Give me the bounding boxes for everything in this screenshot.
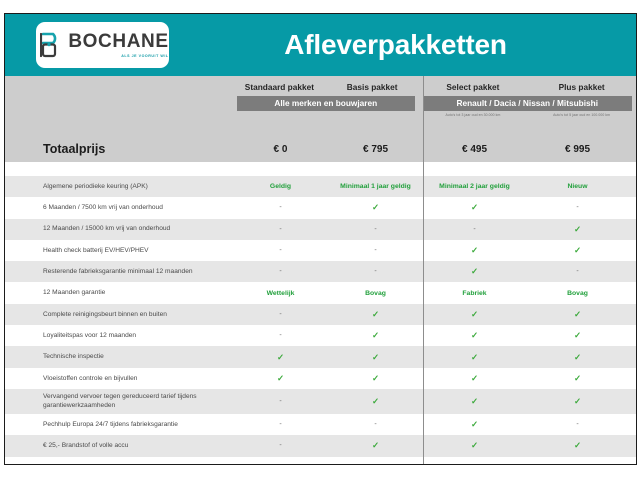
feature-value-select: -: [423, 226, 526, 233]
feature-value-select: ✓: [423, 419, 526, 430]
dash-icon: -: [473, 226, 475, 233]
dash-icon: -: [279, 398, 281, 405]
feature-value-plus: ✓: [526, 352, 629, 363]
table-row: 12 Maanden garantieWettelijkBovagFabriek…: [5, 282, 636, 303]
feature-value-standaard: -: [233, 247, 328, 254]
feature-value-select: ✓: [423, 352, 526, 363]
feature-value-plus: ✓: [526, 224, 629, 235]
table-row: Vervangend vervoer tegen gereduceerd tar…: [5, 389, 636, 414]
feature-value-basis: -: [328, 421, 423, 428]
check-icon: ✓: [471, 245, 478, 255]
table-row: 6 Maanden / 7500 km vrij van onderhoud-✓…: [5, 197, 636, 218]
feature-value-standaard: -: [233, 332, 328, 339]
feature-value-standaard: -: [233, 268, 328, 275]
check-icon: ✓: [574, 330, 581, 340]
feature-value-select: Minimaal 2 jaar geldig: [423, 183, 526, 190]
package-comparison-sheet: BOCHANE ALS JE VOORUIT WIL Afleverpakket…: [4, 13, 637, 465]
package-sub-select: Auto's tot 3 jaar oud en 30.000 km: [419, 113, 528, 117]
total-price-plus: € 995: [526, 144, 629, 155]
page-banner: BOCHANE ALS JE VOORUIT WIL Afleverpakket…: [5, 14, 636, 76]
check-icon: ✓: [372, 330, 379, 340]
feature-value-standaard: -: [233, 226, 328, 233]
table-row: Resterende fabrieksgarantie minimaal 12 …: [5, 261, 636, 282]
feature-value-basis: ✓: [328, 440, 423, 451]
table-row: Complete reinigingsbeurt binnen en buite…: [5, 304, 636, 325]
group-scope-bar-brands: Renault / Dacia / Nissan / Mitsubishi: [423, 96, 632, 111]
feature-table: Algemene periodieke keuring (APK)GeldigM…: [5, 176, 636, 457]
feature-value-select: ✓: [423, 202, 526, 213]
dash-icon: -: [279, 311, 281, 318]
total-price-basis: € 795: [328, 144, 423, 155]
feature-value-basis: -: [328, 247, 423, 254]
dash-icon: -: [279, 332, 281, 339]
feature-name: Complete reinigingsbeurt binnen en buite…: [5, 310, 233, 320]
dash-icon: -: [576, 204, 578, 211]
dash-icon: -: [374, 268, 376, 275]
package-group-brandspecific: Select pakket Plus pakket Renault / Daci…: [419, 76, 636, 136]
dash-icon: -: [279, 442, 281, 449]
check-icon: ✓: [574, 245, 581, 255]
check-icon: ✓: [471, 330, 478, 340]
feature-value-plus: ✓: [526, 330, 629, 341]
check-icon: ✓: [574, 396, 581, 406]
feature-value-standaard: -: [233, 398, 328, 405]
package-sub-plus: Auto's tot 5 jaar oud en 100.000 km: [527, 113, 636, 117]
feature-name: 6 Maanden / 7500 km vrij van onderhoud: [5, 203, 233, 213]
check-icon: ✓: [574, 352, 581, 362]
feature-value-plus: -: [526, 421, 629, 428]
feature-value-plus: ✓: [526, 396, 629, 407]
total-price-label: Totaalprijs: [5, 142, 233, 156]
feature-value-select: ✓: [423, 396, 526, 407]
feature-value-standaard: ✓: [233, 373, 328, 384]
dash-icon: -: [576, 421, 578, 428]
check-icon: ✓: [471, 202, 478, 212]
check-icon: ✓: [574, 373, 581, 383]
feature-value-basis: ✓: [328, 309, 423, 320]
table-row: € 25,- Brandstof of volle accu-✓✓✓: [5, 435, 636, 456]
dash-icon: -: [279, 204, 281, 211]
logo-wordmark: BOCHANE: [68, 32, 168, 51]
dash-icon: -: [279, 268, 281, 275]
check-icon: ✓: [471, 352, 478, 362]
check-icon: ✓: [574, 224, 581, 234]
feature-value-plus: ✓: [526, 309, 629, 320]
package-header: Standaard pakket Basis pakket Alle merke…: [5, 76, 636, 136]
feature-name: Technische inspectie: [5, 352, 233, 362]
feature-value-standaard: Wettelijk: [233, 290, 328, 297]
check-icon: ✓: [372, 440, 379, 450]
dash-icon: -: [279, 226, 281, 233]
feature-name: 12 Maanden garantie: [5, 288, 233, 298]
table-row: Pechhulp Europa 24/7 tijdens fabrieksgar…: [5, 414, 636, 435]
check-icon: ✓: [574, 309, 581, 319]
feature-value-standaard: -: [233, 421, 328, 428]
header-feature-spacer: [5, 76, 233, 136]
package-name-basis: Basis pakket: [326, 82, 419, 92]
table-row: Loyaliteitspas voor 12 maanden-✓✓✓: [5, 325, 636, 346]
logo-tagline: ALS JE VOORUIT WIL: [121, 54, 168, 58]
check-icon: ✓: [372, 202, 379, 212]
package-name-select: Select pakket: [419, 82, 528, 92]
feature-value-basis: ✓: [328, 202, 423, 213]
check-icon: ✓: [372, 396, 379, 406]
feature-name: Vloeistoffen controle en bijvullen: [5, 374, 233, 384]
feature-value-standaard: -: [233, 311, 328, 318]
feature-value-plus: Nieuw: [526, 183, 629, 190]
feature-name: Vervangend vervoer tegen gereduceerd tar…: [5, 392, 233, 411]
feature-value-plus: ✓: [526, 440, 629, 451]
check-icon: ✓: [277, 373, 284, 383]
feature-value-plus: ✓: [526, 373, 629, 384]
feature-value-select: ✓: [423, 266, 526, 277]
check-icon: ✓: [372, 309, 379, 319]
feature-value-basis: ✓: [328, 373, 423, 384]
table-row: Vloeistoffen controle en bijvullen✓✓✓✓: [5, 368, 636, 389]
bochane-b-mark-icon: [40, 32, 62, 58]
total-price-select: € 495: [423, 144, 526, 155]
feature-value-basis: Minimaal 1 jaar geldig: [328, 183, 423, 190]
check-icon: ✓: [471, 309, 478, 319]
feature-value-select: ✓: [423, 440, 526, 451]
dash-icon: -: [374, 247, 376, 254]
table-row: Technische inspectie✓✓✓✓: [5, 346, 636, 367]
logo-wordmark-group: BOCHANE ALS JE VOORUIT WIL: [68, 32, 168, 58]
feature-value-basis: ✓: [328, 330, 423, 341]
dash-icon: -: [374, 421, 376, 428]
table-bottom-padding: [5, 457, 636, 465]
feature-name: Algemene periodieke keuring (APK): [5, 182, 233, 192]
feature-name: Health check batterij EV/HEV/PHEV: [5, 246, 233, 256]
feature-value-standaard: Geldig: [233, 183, 328, 190]
group-divider: [423, 76, 424, 464]
feature-value-standaard: -: [233, 204, 328, 211]
feature-value-plus: -: [526, 268, 629, 275]
feature-value-plus: Bovag: [526, 290, 629, 297]
check-icon: ✓: [574, 440, 581, 450]
feature-value-select: ✓: [423, 330, 526, 341]
total-price-row: Totaalprijs € 0 € 795 € 495 € 995: [5, 136, 636, 162]
feature-value-standaard: -: [233, 442, 328, 449]
package-name-standaard: Standaard pakket: [233, 82, 326, 92]
feature-value-plus: -: [526, 204, 629, 211]
check-icon: ✓: [372, 352, 379, 362]
feature-value-plus: ✓: [526, 245, 629, 256]
dash-icon: -: [374, 226, 376, 233]
feature-value-select: ✓: [423, 309, 526, 320]
feature-value-basis: -: [328, 226, 423, 233]
feature-value-select: Fabriek: [423, 290, 526, 297]
table-row: 12 Maanden / 15000 km vrij van onderhoud…: [5, 219, 636, 240]
dash-icon: -: [279, 247, 281, 254]
feature-value-basis: -: [328, 268, 423, 275]
feature-name: Pechhulp Europa 24/7 tijdens fabrieksgar…: [5, 420, 233, 430]
package-name-plus: Plus pakket: [527, 82, 636, 92]
dash-icon: -: [576, 268, 578, 275]
check-icon: ✓: [471, 419, 478, 429]
check-icon: ✓: [471, 266, 478, 276]
feature-value-basis: Bovag: [328, 290, 423, 297]
feature-name: 12 Maanden / 15000 km vrij van onderhoud: [5, 224, 233, 234]
dash-icon: -: [279, 421, 281, 428]
feature-name: Loyaliteitspas voor 12 maanden: [5, 331, 233, 341]
feature-value-standaard: ✓: [233, 352, 328, 363]
feature-value-select: ✓: [423, 245, 526, 256]
check-icon: ✓: [471, 396, 478, 406]
total-price-standaard: € 0: [233, 144, 328, 155]
table-row: Algemene periodieke keuring (APK)GeldigM…: [5, 176, 636, 197]
feature-name: € 25,- Brandstof of volle accu: [5, 441, 233, 451]
feature-name: Resterende fabrieksgarantie minimaal 12 …: [5, 267, 233, 277]
table-row: Health check batterij EV/HEV/PHEV--✓✓: [5, 240, 636, 261]
check-icon: ✓: [372, 373, 379, 383]
check-icon: ✓: [471, 440, 478, 450]
feature-value-basis: ✓: [328, 396, 423, 407]
group-scope-bar-allebrands: Alle merken en bouwjaren: [237, 96, 415, 111]
feature-value-select: ✓: [423, 373, 526, 384]
header-separator: [5, 162, 636, 176]
package-group-standard: Standaard pakket Basis pakket Alle merke…: [233, 76, 419, 136]
check-icon: ✓: [277, 352, 284, 362]
check-icon: ✓: [471, 373, 478, 383]
feature-value-basis: ✓: [328, 352, 423, 363]
brand-logo[interactable]: BOCHANE ALS JE VOORUIT WIL: [36, 22, 169, 68]
